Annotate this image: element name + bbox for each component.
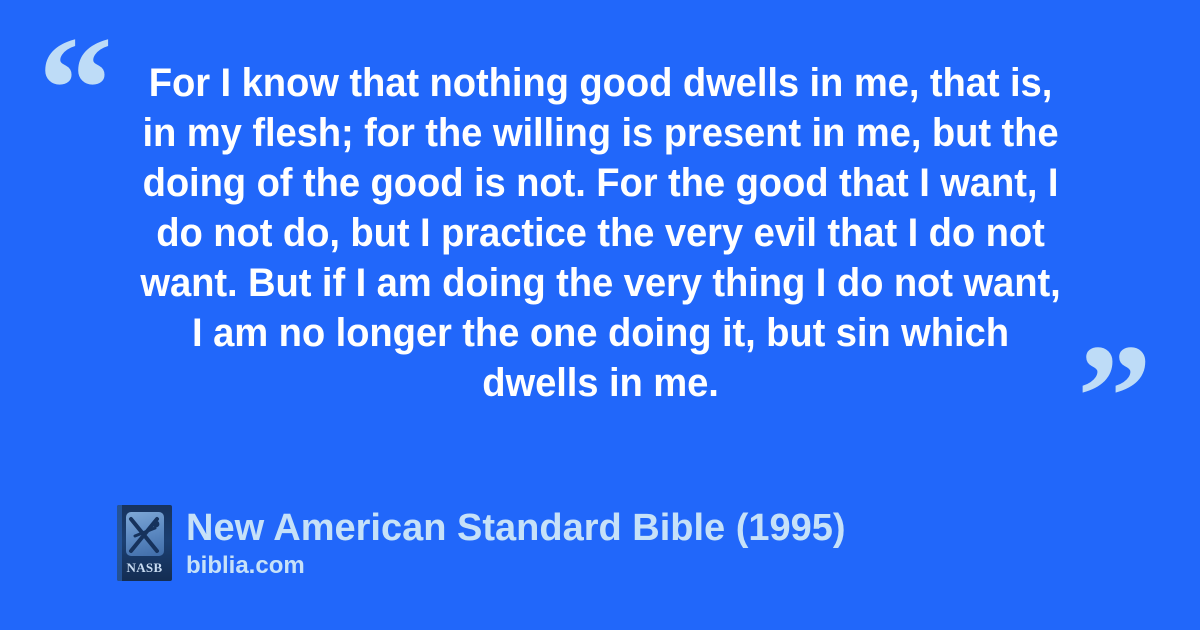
closing-quote-icon: ” [1077,322,1152,472]
nasb-logo: NASB [117,505,172,581]
quote-block: For I know that nothing good dwells in m… [108,58,1093,408]
attribution: NASB New American Standard Bible (1995) … [117,505,846,581]
nasb-sword-logo-icon [126,512,164,556]
opening-quote-icon: “ [38,14,113,164]
attribution-text: New American Standard Bible (1995) bibli… [186,505,846,580]
source-site: biblia.com [186,552,846,580]
quote-card: “ For I know that nothing good dwells in… [0,0,1200,630]
logo-wordmark: NASB [117,560,172,576]
quote-text: For I know that nothing good dwells in m… [130,58,1071,408]
bible-version-title: New American Standard Bible (1995) [186,506,846,550]
